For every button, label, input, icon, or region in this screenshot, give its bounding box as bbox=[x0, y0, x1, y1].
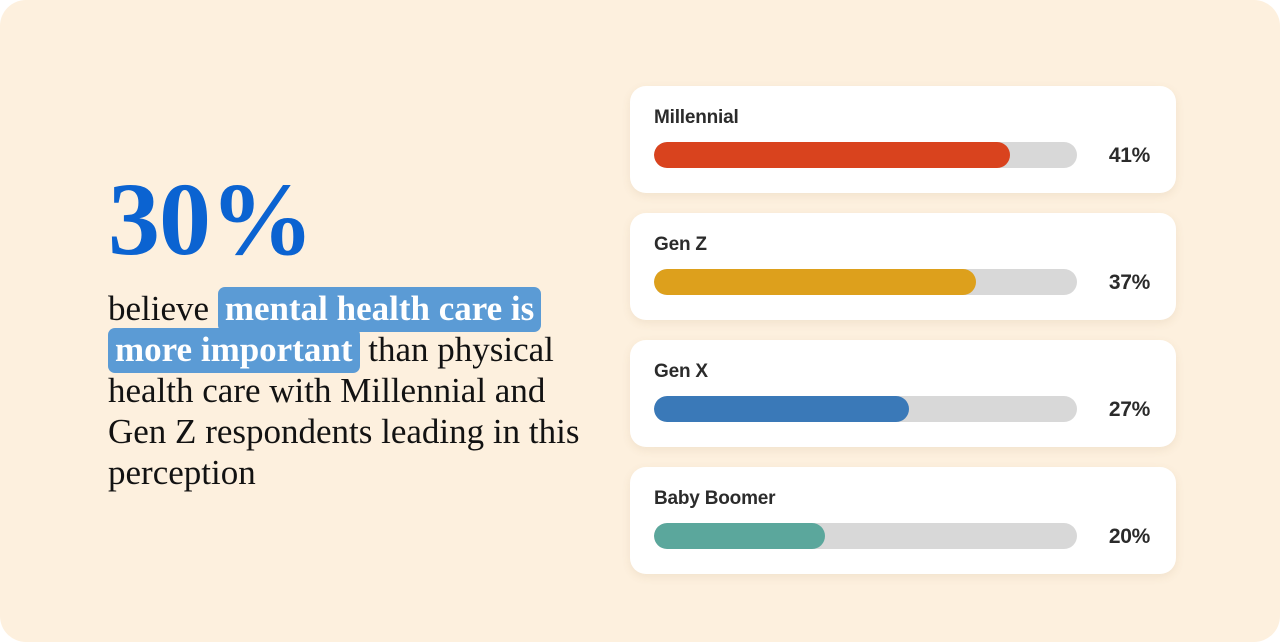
bar-card-label: Millennial bbox=[654, 108, 1150, 127]
statement-highlight-one: mental health care is bbox=[218, 287, 541, 332]
progress-track bbox=[654, 142, 1077, 168]
bar-card-gen-z: Gen Z 37% bbox=[630, 213, 1176, 320]
bar-row: 41% bbox=[654, 142, 1150, 168]
bar-value-label: 20% bbox=[1091, 526, 1150, 547]
headline-statistic: 30% bbox=[108, 168, 608, 272]
headline-statement: believe mental health care is more impor… bbox=[108, 288, 586, 493]
progress-track bbox=[654, 396, 1077, 422]
statement-text-before: believe bbox=[108, 289, 218, 328]
bar-row: 20% bbox=[654, 523, 1150, 549]
generation-bar-cards: Millennial 41% Gen Z 37% Gen X bbox=[630, 86, 1176, 574]
statement-highlight-two: more important bbox=[108, 328, 360, 373]
progress-fill bbox=[654, 396, 909, 422]
progress-track bbox=[654, 523, 1077, 549]
bar-card-gen-x: Gen X 27% bbox=[630, 340, 1176, 447]
bar-card-label: Gen X bbox=[654, 362, 1150, 381]
bar-row: 37% bbox=[654, 269, 1150, 295]
bar-card-label: Baby Boomer bbox=[654, 489, 1150, 508]
bar-value-label: 37% bbox=[1091, 272, 1150, 293]
progress-fill bbox=[654, 523, 825, 549]
bar-value-label: 41% bbox=[1091, 145, 1150, 166]
bar-card-label: Gen Z bbox=[654, 235, 1150, 254]
bar-card-millennial: Millennial 41% bbox=[630, 86, 1176, 193]
progress-fill bbox=[654, 142, 1010, 168]
bar-card-baby-boomer: Baby Boomer 20% bbox=[630, 467, 1176, 574]
progress-track bbox=[654, 269, 1077, 295]
headline-panel: 30% believe mental health care is more i… bbox=[108, 168, 608, 493]
progress-fill bbox=[654, 269, 976, 295]
bar-value-label: 27% bbox=[1091, 399, 1150, 420]
infographic-canvas: 30% believe mental health care is more i… bbox=[0, 0, 1280, 642]
bar-row: 27% bbox=[654, 396, 1150, 422]
